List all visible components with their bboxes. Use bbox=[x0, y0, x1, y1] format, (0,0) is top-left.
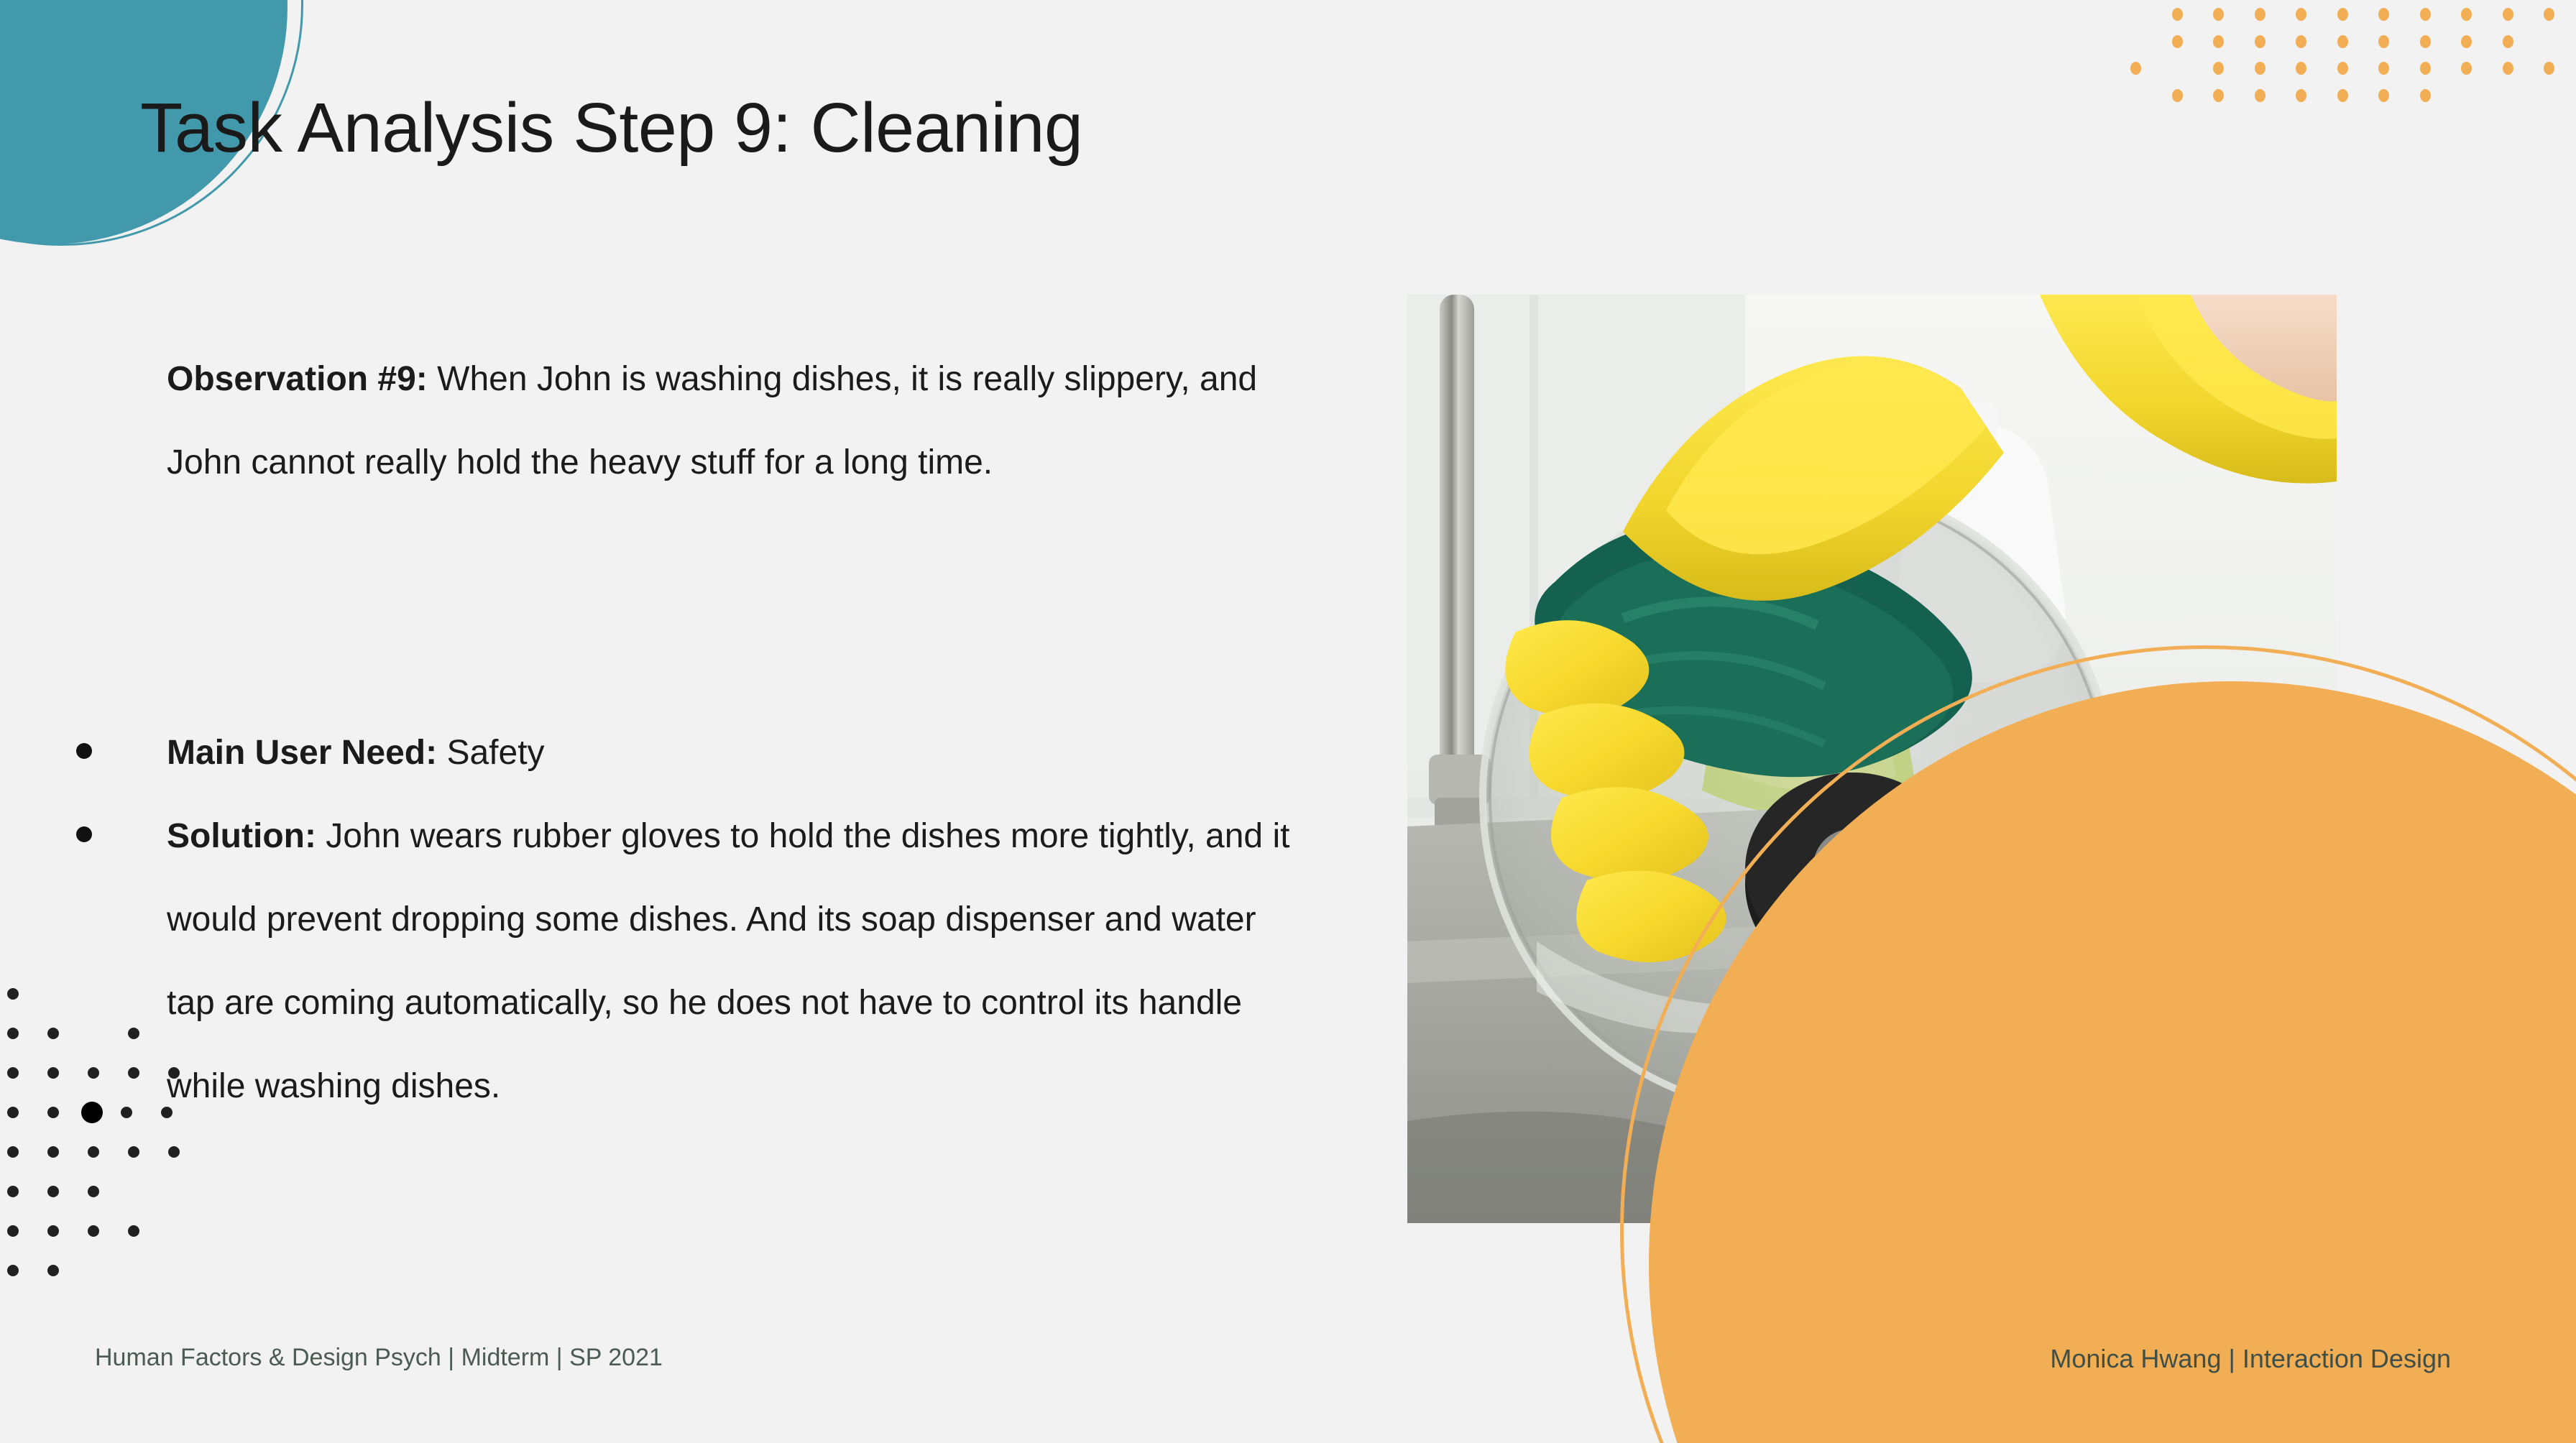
black-dot-row bbox=[7, 974, 180, 1013]
orange-dot-icon bbox=[2130, 62, 2141, 75]
black-dot-icon bbox=[88, 1146, 99, 1158]
black-dot-icon bbox=[88, 988, 99, 1000]
orange-dot-icon bbox=[2503, 62, 2513, 75]
orange-dot-icon bbox=[2255, 35, 2265, 48]
orange-dot-icon bbox=[2130, 35, 2141, 48]
orange-dot-icon bbox=[2503, 89, 2513, 102]
black-dot-icon bbox=[168, 988, 180, 1000]
black-dot-icon bbox=[201, 1107, 213, 1118]
observation-paragraph: Observation #9: When John is washing dis… bbox=[167, 338, 1266, 504]
orange-dot-icon bbox=[2337, 35, 2348, 48]
orange-dot-icon bbox=[2378, 8, 2389, 21]
black-dot-icon bbox=[168, 1146, 180, 1158]
black-dot-icon bbox=[47, 988, 59, 1000]
orange-dot-icon bbox=[2255, 89, 2265, 102]
orange-dot-icon bbox=[2378, 89, 2389, 102]
black-dot-icon bbox=[88, 1225, 99, 1237]
orange-dot-icon bbox=[2296, 8, 2306, 21]
footer-right-text: Monica Hwang | Interaction Design bbox=[2050, 1344, 2451, 1374]
page-title: Task Analysis Step 9: Cleaning bbox=[140, 88, 1082, 168]
orange-dot-row bbox=[2130, 82, 2576, 109]
black-dot-row bbox=[7, 1092, 180, 1132]
orange-dot-icon bbox=[2337, 8, 2348, 21]
orange-dot-icon bbox=[2420, 35, 2431, 48]
orange-dot-icon bbox=[2337, 62, 2348, 75]
black-dot-icon bbox=[88, 1067, 99, 1079]
orange-dot-icon bbox=[2172, 8, 2183, 21]
black-dot-row bbox=[7, 1053, 180, 1092]
black-dot-icon bbox=[7, 1028, 19, 1039]
black-dot-icon bbox=[128, 1067, 139, 1079]
black-dot-icon bbox=[168, 1028, 180, 1039]
list-item: Main User Need: Safety bbox=[72, 711, 1294, 795]
black-dot-large-icon bbox=[81, 1102, 103, 1123]
orange-dot-icon bbox=[2378, 62, 2389, 75]
orange-dot-row bbox=[2130, 28, 2576, 55]
orange-dot-row bbox=[2130, 1, 2576, 29]
orange-dot-icon bbox=[2296, 35, 2306, 48]
black-dot-row bbox=[7, 1013, 180, 1053]
list-item: Solution: John wears rubber gloves to ho… bbox=[72, 795, 1294, 1128]
orange-dot-icon bbox=[2172, 62, 2183, 75]
black-dot-icon bbox=[47, 1028, 59, 1039]
black-dot-icon bbox=[47, 1265, 59, 1276]
black-dot-icon bbox=[7, 1265, 19, 1276]
bullet-dot-icon bbox=[76, 826, 92, 842]
orange-dot-icon bbox=[2461, 35, 2472, 48]
black-dot-row bbox=[7, 1211, 180, 1250]
bullet-text: Safety bbox=[437, 734, 544, 772]
observation-label: Observation #9: bbox=[167, 360, 428, 398]
orange-dot-icon bbox=[2503, 8, 2513, 21]
orange-dot-icon bbox=[2337, 89, 2348, 102]
black-dot-icon bbox=[168, 1225, 180, 1237]
black-dot-row bbox=[7, 1250, 180, 1290]
orange-dot-icon bbox=[2503, 35, 2513, 48]
black-dot-row bbox=[7, 1171, 180, 1211]
black-dot-icon bbox=[47, 1067, 59, 1079]
orange-dot-icon bbox=[2255, 8, 2265, 21]
orange-dot-icon bbox=[2461, 89, 2472, 102]
black-dot-icon bbox=[128, 1265, 139, 1276]
black-dot-icon bbox=[128, 1146, 139, 1158]
orange-dot-icon bbox=[2544, 62, 2554, 75]
orange-dot-icon bbox=[2378, 35, 2389, 48]
orange-dot-icon bbox=[2213, 62, 2224, 75]
black-dot-icon bbox=[121, 1107, 132, 1118]
black-dot-icon bbox=[168, 1186, 180, 1197]
black-dot-icon bbox=[7, 988, 19, 1000]
black-dot-icon bbox=[7, 1146, 19, 1158]
black-dot-icon bbox=[128, 988, 139, 1000]
black-dot-icon bbox=[128, 1186, 139, 1197]
orange-dot-icon bbox=[2420, 8, 2431, 21]
orange-dot-icon bbox=[2544, 89, 2554, 102]
black-dot-icon bbox=[88, 1265, 99, 1276]
black-dot-icon bbox=[47, 1225, 59, 1237]
orange-dot-icon bbox=[2213, 8, 2224, 21]
black-dot-icon bbox=[161, 1107, 172, 1118]
orange-dot-icon bbox=[2172, 35, 2183, 48]
orange-dot-icon bbox=[2461, 8, 2472, 21]
orange-dot-icon bbox=[2130, 89, 2141, 102]
black-dot-icon bbox=[7, 1186, 19, 1197]
black-dot-icon bbox=[7, 1225, 19, 1237]
black-dot-icon bbox=[88, 1028, 99, 1039]
black-dot-icon bbox=[47, 1146, 59, 1158]
needs-solution-list: Main User Need: Safety Solution: John we… bbox=[72, 711, 1294, 1128]
bullet-dot-icon bbox=[76, 743, 92, 759]
black-dot-icon bbox=[168, 1265, 180, 1276]
orange-dot-icon bbox=[2544, 8, 2554, 21]
black-dot-icon bbox=[47, 1107, 59, 1118]
orange-dot-icon bbox=[2544, 35, 2554, 48]
slide-canvas: Task Analysis Step 9: Cleaning Observati… bbox=[0, 0, 2576, 1443]
orange-dot-icon bbox=[2213, 35, 2224, 48]
orange-dot-icon bbox=[2130, 8, 2141, 21]
footer-left-text: Human Factors & Design Psych | Midterm |… bbox=[95, 1344, 663, 1372]
black-dot-icon bbox=[7, 1067, 19, 1079]
bullet-label: Main User Need: bbox=[167, 734, 437, 772]
orange-dot-icon bbox=[2296, 89, 2306, 102]
black-dot-icon bbox=[7, 1107, 19, 1118]
observation-block: Observation #9: When John is washing dis… bbox=[167, 338, 1266, 504]
orange-dot-icon bbox=[2461, 62, 2472, 75]
orange-dot-icon bbox=[2172, 89, 2183, 102]
black-dot-pattern bbox=[7, 974, 180, 1297]
orange-dot-row bbox=[2130, 55, 2576, 83]
orange-dot-icon bbox=[2296, 62, 2306, 75]
orange-dot-icon bbox=[2213, 89, 2224, 102]
black-dot-icon bbox=[128, 1028, 139, 1039]
black-dot-icon bbox=[128, 1225, 139, 1237]
orange-dot-icon bbox=[2420, 89, 2431, 102]
black-dot-icon bbox=[88, 1186, 99, 1197]
black-dot-icon bbox=[168, 1067, 180, 1079]
orange-dot-pattern bbox=[2130, 0, 2576, 154]
orange-dot-icon bbox=[2255, 62, 2265, 75]
black-dot-icon bbox=[47, 1186, 59, 1197]
orange-dot-icon bbox=[2420, 62, 2431, 75]
black-dot-row bbox=[7, 1132, 180, 1171]
bullet-label: Solution: bbox=[167, 817, 316, 855]
bullet-text: John wears rubber gloves to hold the dis… bbox=[167, 817, 1289, 1105]
